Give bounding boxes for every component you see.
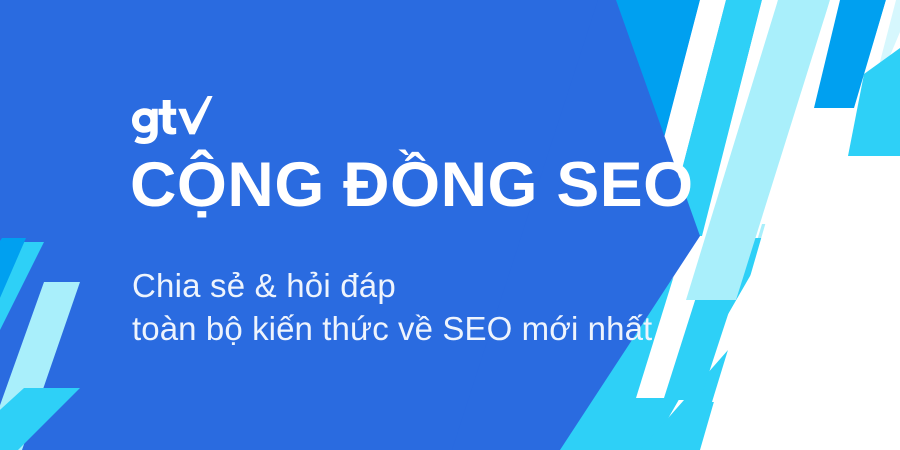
subtitle-line-2: toàn bộ kiến thức về SEO mới nhất: [132, 307, 652, 350]
page-title: CỘNG ĐỒNG SEO: [130, 152, 694, 218]
banner-content: CỘNG ĐỒNG SEO Chia sẻ & hỏi đáp toàn bộ …: [0, 0, 900, 450]
logo-letter-t: [159, 100, 177, 135]
gtv-logo: [131, 96, 213, 144]
logo-letter-v: [178, 96, 212, 134]
banner-subtitle: Chia sẻ & hỏi đáp toàn bộ kiến thức về S…: [132, 264, 652, 350]
logo-letter-g: [132, 108, 158, 144]
seo-community-banner: CỘNG ĐỒNG SEO Chia sẻ & hỏi đáp toàn bộ …: [0, 0, 900, 450]
subtitle-line-1: Chia sẻ & hỏi đáp: [132, 264, 652, 307]
